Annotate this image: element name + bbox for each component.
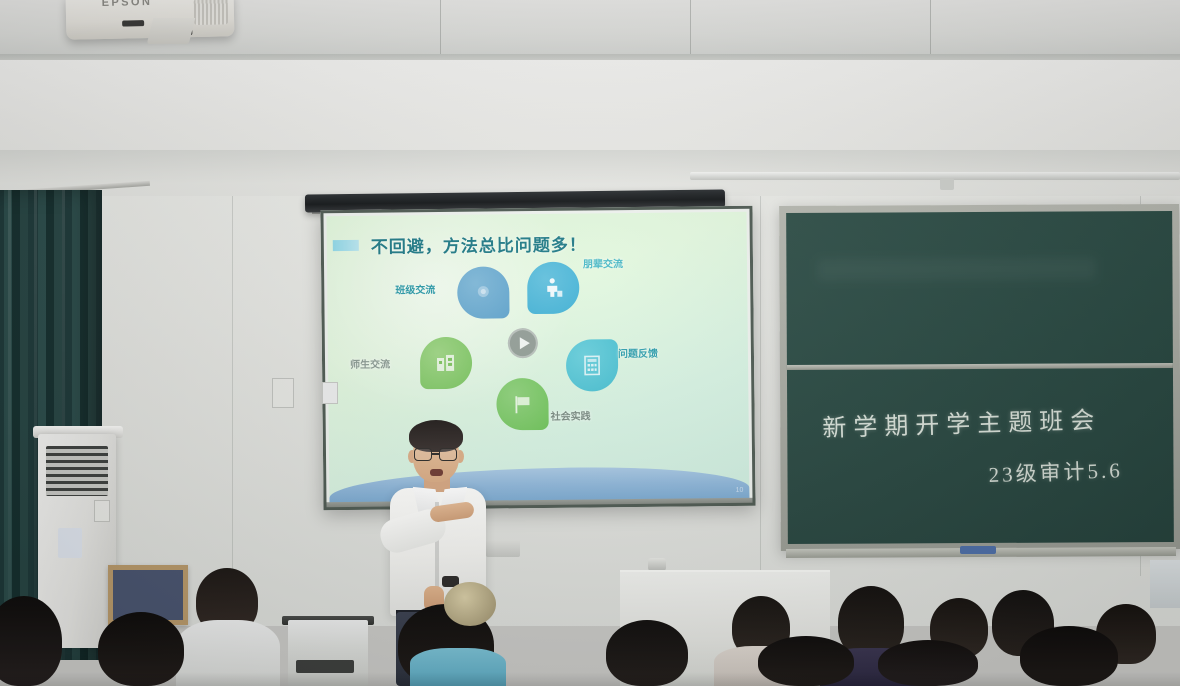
- blackboard-eraser[interactable]: [960, 546, 996, 554]
- ceiling-seam: [440, 0, 441, 62]
- audience-hat: [444, 582, 496, 626]
- slide-title: 不回避，方法总比问题多！: [371, 230, 587, 257]
- pin-peer-exchange: [527, 262, 580, 315]
- air-conditioner-grille-icon: [46, 446, 108, 496]
- projector-mount: [147, 18, 195, 44]
- window-edge: [1150, 560, 1180, 608]
- blackboard-text-line-1: 新学期开学主题班会: [822, 400, 1102, 443]
- pin-teacher-student-exchange: [420, 337, 473, 390]
- air-conditioner-label: [58, 528, 82, 558]
- wall-seam: [232, 196, 233, 596]
- play-button-icon[interactable]: [508, 328, 538, 358]
- wall-switch-plate[interactable]: [322, 382, 338, 404]
- blackboard-text-line-2: 23级审计5.6: [988, 454, 1123, 489]
- chalk-smudge: [817, 258, 1095, 281]
- blackboard: 新学期开学主题班会 23级审计5.6: [779, 204, 1180, 551]
- rail-clip: [940, 178, 954, 190]
- pin-label-problem-feedback: 问题反馈: [618, 345, 658, 360]
- pin-class-exchange: [457, 266, 510, 319]
- pin-problem-feedback: [566, 339, 619, 392]
- presenter-mouth: [430, 469, 443, 476]
- ceiling-seam: [930, 0, 931, 62]
- wall-outlet-plate[interactable]: [272, 378, 294, 408]
- presenter-glasses: [414, 448, 458, 461]
- person-icon: [541, 276, 565, 300]
- flag-icon: [510, 392, 534, 416]
- slide-page-number: 10: [736, 487, 744, 494]
- blackboard-divider: [787, 363, 1173, 370]
- projector-vent-icon: [194, 0, 229, 25]
- calculator-icon: [580, 353, 604, 377]
- pin-label-teacher-student-exchange: 师生交流: [350, 356, 390, 371]
- classroom-photo: EPSON 不回避，方法总比问题多！: [0, 0, 1180, 686]
- projector-brand-label: EPSON: [102, 0, 153, 9]
- pin-label-class-exchange: 班级交流: [395, 281, 435, 296]
- play-triangle-icon: [519, 337, 529, 349]
- air-conditioner-control-panel[interactable]: [94, 500, 110, 522]
- ceiling-rail: [690, 172, 1180, 180]
- pin-label-peer-exchange: 朋辈交流: [583, 255, 623, 270]
- foreground-vignette: [0, 672, 1180, 686]
- group-icon: [471, 280, 495, 304]
- ceiling-seam: [690, 0, 691, 62]
- building-icon: [434, 351, 458, 375]
- slide-accent-bar: [333, 240, 359, 251]
- blackboard-surface: 新学期开学主题班会 23级审计5.6: [786, 211, 1174, 544]
- wall-seam: [760, 196, 761, 596]
- projector-port: [122, 20, 144, 26]
- pin-label-social-practice: 社会实践: [551, 407, 591, 422]
